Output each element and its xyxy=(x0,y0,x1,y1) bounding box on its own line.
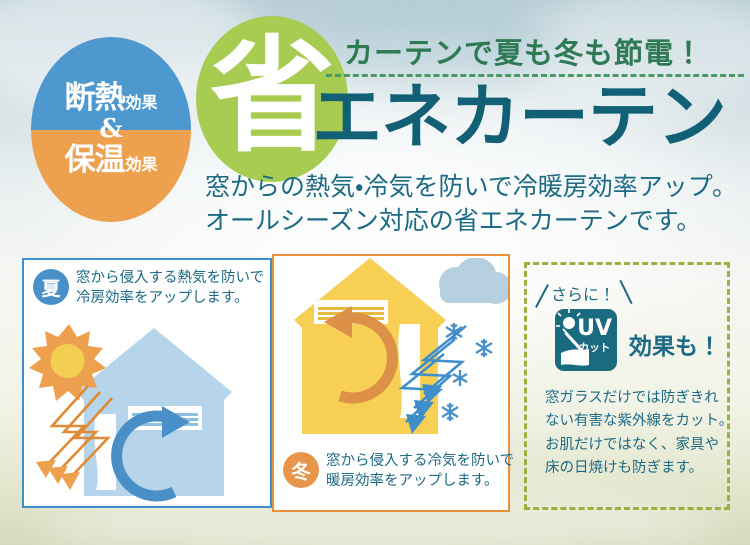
badge-warmth-main: 保温 xyxy=(64,145,124,176)
sarani-slash-right-icon xyxy=(619,280,632,304)
sarani-slash-left-icon xyxy=(535,284,549,308)
winter-caption-line-1: 窓から侵入する冷気を防いで xyxy=(326,452,514,472)
uv-description-line-2: ない有害な紫外線をカット。 xyxy=(545,410,721,433)
summer-illustration xyxy=(24,314,270,504)
promo-banner: 断熱 効果 & 保温 効果 省 カーテンで夏も冬も節電！ エネカーテン 窓からの… xyxy=(0,0,750,545)
panel-summer: 夏 窓から侵入する熱気を防いで 冷房効率をアップします。 xyxy=(22,258,272,508)
badge-row-insulation: 断熱 効果 xyxy=(64,83,157,114)
uv-logo-cut-label: カット xyxy=(577,343,612,354)
uv-description-line-1: 窓ガラスだけでは防ぎきれ xyxy=(545,387,721,410)
header-lead-line-2: オールシーズン対応の省エネカーテンです。 xyxy=(205,204,737,238)
uv-description: 窓ガラスだけでは防ぎきれ ない有害な紫外線をカット。 お肌だけではなく、家具や … xyxy=(545,387,721,481)
summer-caption-line-2: 冷房効率をアップします。 xyxy=(76,289,264,309)
winter-caption-line-2: 暖房効率をアップします。 xyxy=(326,472,514,492)
panel-winter: 冬 窓から侵入する冷気を防いで 暖房効率をアップします。 xyxy=(272,254,510,512)
badge-warmth-sub: 効果 xyxy=(125,157,157,173)
uv-description-line-3: お肌だけではなく、家具や xyxy=(545,434,721,457)
page-title: エネカーテン xyxy=(312,82,726,152)
header-kicker: カーテンで夏も冬も節電！ xyxy=(344,30,704,72)
winter-caption-text: 窓から侵入する冷気を防いで 暖房効率をアップします。 xyxy=(326,452,514,491)
badge-insulation-sub: 効果 xyxy=(125,95,157,111)
winter-illustration xyxy=(274,258,508,458)
dual-effect-badge: 断熱 効果 & 保温 効果 xyxy=(31,37,191,222)
summer-caption-line-1: 窓から侵入する熱気を防いで xyxy=(76,269,264,289)
header-lead-line-1: 窓からの熱気・冷気を防いで冷暖房効率アップ。 xyxy=(205,170,737,204)
badge-label-group: 断熱 効果 & 保温 効果 xyxy=(31,37,191,222)
sarani-label: さらに！ xyxy=(551,281,615,305)
summer-caption-text: 窓から侵入する熱気を防いで 冷房効率をアップします。 xyxy=(76,269,264,308)
uv-logo-text: UV カット xyxy=(577,318,612,354)
badge-row-warmth: 保温 効果 xyxy=(64,145,157,176)
uv-description-line-4: 床の日焼けも防ぎます。 xyxy=(545,457,721,480)
uv-cut-logo: UV カット xyxy=(555,309,617,371)
banner-header: 断熱 効果 & 保温 効果 省 カーテンで夏も冬も節電！ エネカーテン 窓からの… xyxy=(0,0,750,248)
panel-uv: さらに！ UV カット 効果も！ 窓ガラスだけでは防ぎきれ ない有害な紫外線をカ… xyxy=(524,262,730,510)
heat-ray-arrowheads xyxy=(36,460,80,490)
badge-ampersand: & xyxy=(99,116,122,142)
badge-insulation-main: 断熱 xyxy=(64,83,124,114)
winter-caption: 冬 窓から侵入する冷気を防いで 暖房効率をアップします。 xyxy=(283,452,514,491)
header-lead: 窓からの熱気・冷気を防いで冷暖房効率アップ。 オールシーズン対応の省エネカーテン… xyxy=(205,170,737,238)
cloud-icon xyxy=(439,258,508,304)
winter-season-badge: 冬 xyxy=(283,452,319,488)
summer-caption: 夏 窓から侵入する熱気を防いで 冷房効率をアップします。 xyxy=(33,269,264,308)
uv-effect-label: 効果も！ xyxy=(629,327,721,361)
uv-logo-uv-label: UV xyxy=(577,318,612,340)
summer-season-badge: 夏 xyxy=(33,269,69,305)
